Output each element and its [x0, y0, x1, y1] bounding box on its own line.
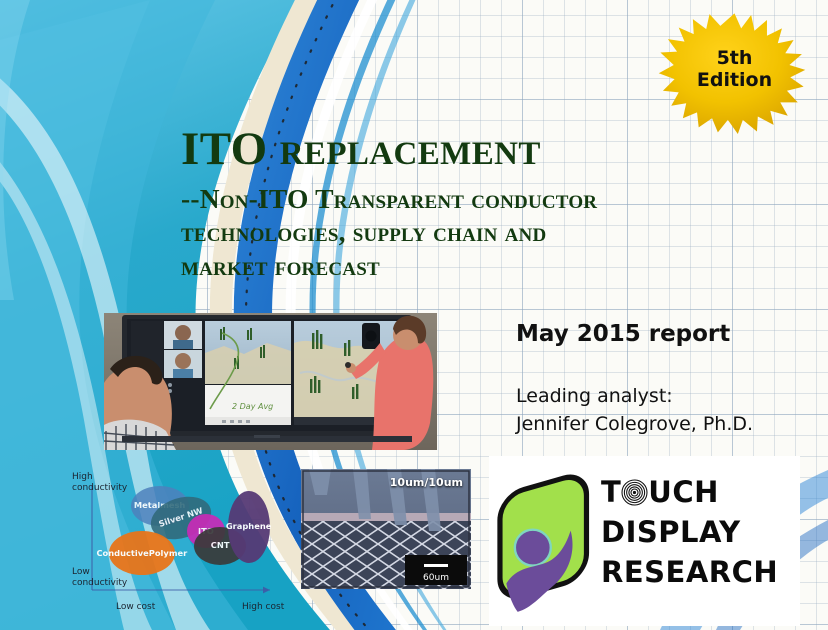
logo-line-display: DISPLAY — [601, 512, 778, 552]
scale-bar-line — [424, 564, 448, 567]
page-subtitle: --Non-ITO Transparent conductor technolo… — [181, 182, 751, 283]
report-date: May 2015 report — [516, 321, 730, 347]
presentation-photo: 2 Day Avg — [104, 313, 437, 450]
logo-line-touch: T UCH — [601, 472, 778, 512]
logo-touch-dot — [515, 530, 551, 566]
technology-positioning-chart: High conductivity Low conductivity Low c… — [44, 459, 316, 630]
bubble-graphene: Graphene — [228, 491, 270, 563]
logo-letter-t: T — [601, 475, 621, 509]
subtitle-line-2: technologies, supply chain and — [181, 215, 751, 249]
scale-bar-label: 60um — [405, 573, 467, 583]
subtitle-line-1: --Non-ITO Transparent conductor — [181, 182, 751, 216]
analyst-block: Leading analyst: Jennifer Colegrove, Ph.… — [516, 383, 753, 439]
analyst-name: Jennifer Colegrove, Ph.D. — [516, 411, 753, 439]
ripple-icon — [621, 479, 648, 506]
logo-letters-uch: UCH — [648, 475, 719, 509]
whiteboard-handwriting: 2 Day Avg — [232, 402, 273, 411]
micrograph-image: 10um/10um 60um — [301, 469, 471, 589]
subtitle-line-3: market forecast — [181, 249, 751, 283]
presentation-slide: 5th Edition ITO replacement --Non-ITO Tr… — [0, 0, 828, 630]
page-title: ITO replacement — [181, 126, 751, 174]
analyst-label: Leading analyst: — [516, 383, 753, 411]
bubble-conductive-polymer: ConductivePolymer — [109, 531, 175, 575]
micrograph-scale-bar: 60um — [405, 555, 467, 585]
chart-bubble-layer: MetalmeshSilver NWITOCNTGrapheneConducti… — [44, 459, 316, 630]
logo-wordmark: T UCH DISPLAY RESEARCH — [601, 472, 778, 592]
micrograph-pitch-label: 10um/10um — [301, 476, 463, 489]
company-logo: T UCH DISPLAY RESEARCH — [489, 456, 800, 626]
title-block: ITO replacement --Non-ITO Transparent co… — [181, 126, 751, 283]
tablet-logo-mark — [495, 470, 599, 612]
photo-illustration: 2 Day Avg — [104, 313, 437, 450]
logo-line-research: RESEARCH — [601, 552, 778, 592]
